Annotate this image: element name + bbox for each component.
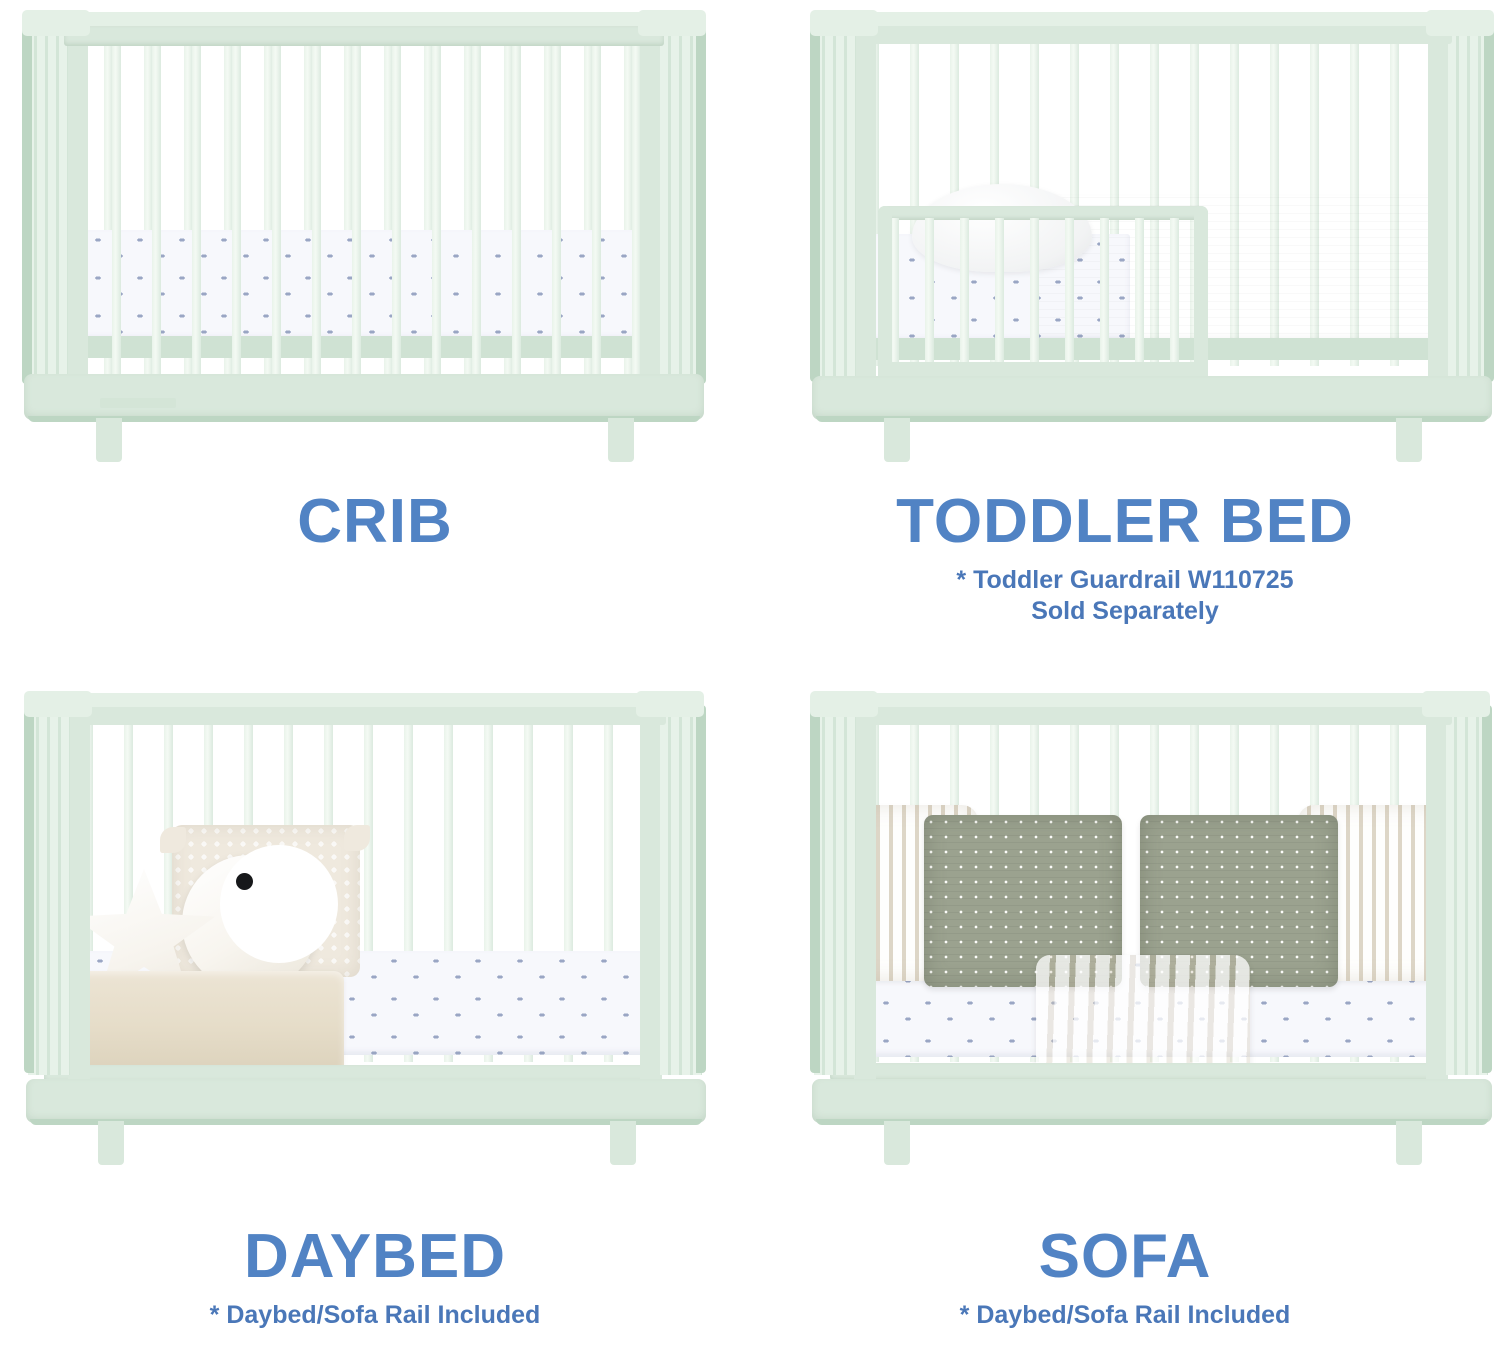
toddler-bed-title: TODDLER BED xyxy=(750,490,1500,553)
sofa-top-rail-inner xyxy=(856,707,1452,725)
daybed-top-rail-inner xyxy=(70,707,666,725)
crib-caption: CRIB xyxy=(0,490,750,553)
toddler-bed-note: * Toddler Guardrail W110725 Sold Separat… xyxy=(750,565,1500,626)
daybed-left-outer-edge xyxy=(24,705,34,1073)
toddler-guardrail-right-post xyxy=(1194,206,1208,384)
toddler-leg-left xyxy=(884,418,910,462)
daybed-cream-blanket xyxy=(54,971,344,1069)
crib-illustration xyxy=(14,6,714,466)
daybed-right-post xyxy=(640,701,662,1079)
sofa-left-outer-edge xyxy=(810,705,820,1073)
panel-sofa: SOFA * Daybed/Sofa Rail Included xyxy=(750,673,1500,1346)
sofa-title: SOFA xyxy=(750,1225,1500,1288)
toddler-base-shadow-line xyxy=(816,416,1488,422)
sofa-right-post xyxy=(1426,701,1448,1079)
crib-top-corner-right xyxy=(638,10,706,36)
daybed-top-corner-right xyxy=(636,691,704,717)
conversion-options-grid: CRIB xyxy=(0,0,1500,1346)
toddler-right-post xyxy=(1428,20,1450,388)
sofa-illustration xyxy=(800,687,1500,1157)
daybed-base-rail xyxy=(26,1079,706,1123)
panel-toddler-bed: TODDLER BED * Toddler Guardrail W110725 … xyxy=(750,0,1500,673)
daybed-left-post xyxy=(68,701,90,1079)
crib-left-post xyxy=(66,20,88,390)
crib-front-slats xyxy=(64,44,664,374)
toddler-right-outer-edge xyxy=(1484,24,1494,382)
sofa-left-post xyxy=(854,701,876,1079)
toddler-top-rail-inner xyxy=(856,26,1452,44)
toddler-bed-note-line-2: Sold Separately xyxy=(750,596,1500,627)
daybed-title: DAYBED xyxy=(0,1225,750,1288)
toddler-guardrail-slats xyxy=(886,218,1204,370)
daybed-waffle-corner-left xyxy=(160,827,186,853)
daybed-moon-eye xyxy=(236,873,253,890)
daybed-moon-cutout xyxy=(220,845,338,963)
toddler-top-corner-left xyxy=(810,10,878,36)
toddler-left-end-slats xyxy=(814,36,856,384)
crib-leg-right xyxy=(608,418,634,462)
toddler-leg-right xyxy=(1396,418,1422,462)
sofa-caption: SOFA * Daybed/Sofa Rail Included xyxy=(750,1225,1500,1331)
daybed-note: * Daybed/Sofa Rail Included xyxy=(0,1300,750,1331)
daybed-illustration xyxy=(14,687,714,1157)
sofa-top-corner-left xyxy=(810,691,878,717)
sofa-left-end-slats xyxy=(814,717,856,1075)
sofa-base-rail xyxy=(812,1079,1492,1123)
crib-left-end-slats xyxy=(26,36,68,386)
sofa-leg-right xyxy=(1396,1121,1422,1165)
panel-daybed: DAYBED * Daybed/Sofa Rail Included xyxy=(0,673,750,1346)
crib-top-rail-front xyxy=(64,26,664,46)
crib-base-shadow-line xyxy=(28,416,700,422)
toddler-base-rail xyxy=(812,376,1492,420)
sofa-right-outer-edge xyxy=(1482,705,1492,1073)
toddler-left-outer-edge xyxy=(810,24,820,382)
crib-top-corner-left xyxy=(22,10,90,36)
toddler-bed-note-line-1: * Toddler Guardrail W110725 xyxy=(750,565,1500,596)
toddler-left-post xyxy=(854,20,876,388)
daybed-left-end-slats xyxy=(28,717,70,1075)
crib-left-outer-edge xyxy=(22,24,32,384)
toddler-bed-illustration xyxy=(800,6,1500,466)
sofa-top-corner-right xyxy=(1422,691,1490,717)
daybed-caption: DAYBED * Daybed/Sofa Rail Included xyxy=(0,1225,750,1331)
crib-right-post xyxy=(640,20,662,390)
toddler-bed-caption: TODDLER BED * Toddler Guardrail W110725 … xyxy=(750,490,1500,626)
crib-title: CRIB xyxy=(0,490,750,553)
sofa-base-shadow-line xyxy=(816,1119,1488,1125)
crib-leg-left xyxy=(96,418,122,462)
daybed-waffle-corner-right xyxy=(344,825,370,851)
toddler-top-corner-right xyxy=(1426,10,1494,36)
daybed-leg-right xyxy=(610,1121,636,1165)
toddler-guardrail-left-post xyxy=(878,206,892,384)
panel-crib: CRIB xyxy=(0,0,750,673)
crib-right-outer-edge xyxy=(696,24,706,384)
crib-brand-plate xyxy=(100,398,176,408)
daybed-leg-left xyxy=(98,1121,124,1165)
sofa-leg-left xyxy=(884,1121,910,1165)
crib-base-rail xyxy=(24,374,704,420)
daybed-top-corner-left xyxy=(24,691,92,717)
daybed-base-shadow-line xyxy=(30,1119,702,1125)
daybed-right-outer-edge xyxy=(696,705,706,1073)
sofa-note: * Daybed/Sofa Rail Included xyxy=(750,1300,1500,1331)
